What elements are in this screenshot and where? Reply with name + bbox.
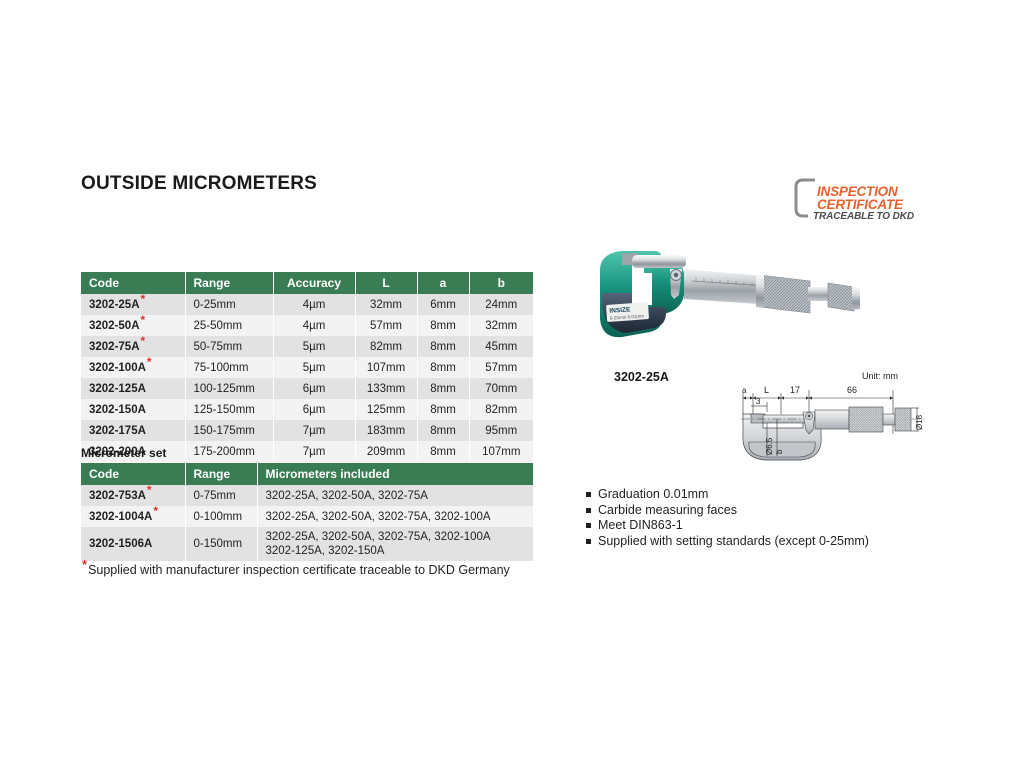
dim-label-17: 17 [790,385,800,395]
col-header-accuracy: Accuracy [273,272,355,294]
table-row: 3202-125A100-125mm6µm133mm8mm70mm [81,378,533,399]
cell-set-code: 3202-1004A* [81,506,185,527]
cell-a: 8mm [417,315,469,336]
cell-l: 209mm [355,441,417,462]
feature-text: Meet DIN863-1 [598,518,683,534]
cell-b: 45mm [469,336,533,357]
included-line: 3202-25A, 3202-50A, 3202-75A, 3202-100A [266,510,528,524]
cell-b: 70mm [469,378,533,399]
cell-l: 57mm [355,315,417,336]
included-line: 3202-25A, 3202-50A, 3202-75A, 3202-100A [266,530,528,544]
certificate-star-icon: * [147,355,152,369]
cell-set-range: 0-75mm [185,485,257,506]
cell-range: 125-150mm [185,399,273,420]
cell-a: 8mm [417,420,469,441]
cell-accuracy: 4µm [273,294,355,315]
cell-b: 32mm [469,315,533,336]
cell-l: 125mm [355,399,417,420]
product-photo-micrometer: INSIZE 0-25mm 0.01mm [592,233,888,363]
cell-range: 175-200mm [185,441,273,462]
cell-set-included: 3202-25A, 3202-50A, 3202-75A, 3202-100A [257,506,533,527]
dim-label-b: b [775,450,784,454]
cell-accuracy: 5µm [273,357,355,378]
cell-l: 82mm [355,336,417,357]
cell-set-included: 3202-25A, 3202-50A, 3202-75A, 3202-100A3… [257,527,533,561]
col-header-code: Code [81,272,185,294]
micrometer-set-table: Code Range Micrometers included 3202-753… [81,463,533,561]
feature-list: Graduation 0.01mmCarbide measuring faces… [586,487,869,549]
table-row: 3202-100A*75-100mm5µm107mm8mm57mm [81,357,533,378]
cell-a: 8mm [417,378,469,399]
set-col-header-code: Code [81,463,185,485]
cell-set-range: 0-150mm [185,527,257,561]
included-line: 3202-125A, 3202-150A [266,544,528,558]
set-table-row: 3202-753A*0-75mm3202-25A, 3202-50A, 3202… [81,485,533,506]
cell-l: 32mm [355,294,417,315]
included-line: 3202-25A, 3202-50A, 3202-75A [266,489,528,503]
col-header-a: a [417,272,469,294]
cell-a: 6mm [417,294,469,315]
cell-code: 3202-50A* [81,315,185,336]
table-header-row: Code Range Accuracy L a b [81,272,533,294]
footnote-star-icon: * [82,557,87,572]
cell-code: 3202-150A [81,399,185,420]
table-row: 3202-150A125-150mm6µm125mm8mm82mm [81,399,533,420]
feature-text: Graduation 0.01mm [598,487,708,503]
feature-item: Meet DIN863-1 [586,518,869,534]
cell-set-code: 3202-1506A [81,527,185,561]
certificate-star-icon: * [141,334,146,348]
cell-code: 3202-175A [81,420,185,441]
cell-set-included: 3202-25A, 3202-50A, 3202-75A [257,485,533,506]
dim-label-66: 66 [847,385,857,395]
feature-text: Carbide measuring faces [598,503,737,519]
cell-code: 3202-25A* [81,294,185,315]
certificate-star-icon: * [147,483,152,497]
feature-text: Supplied with setting standards (except … [598,534,869,550]
footnote: *Supplied with manufacturer inspection c… [81,563,510,577]
table-row: 3202-75A*50-75mm5µm82mm8mm45mm [81,336,533,357]
inspection-certificate-logo: INSPECTION CERTIFICATE TRACEABLE TO DKD [793,176,953,226]
cell-code: 3202-125A [81,378,185,399]
cell-accuracy: 7µm [273,441,355,462]
certificate-line-3: TRACEABLE TO DKD [813,211,914,222]
dim-label-dia-18: Ø18 [915,415,924,430]
set-table-row: 3202-1506A0-150mm3202-25A, 3202-50A, 320… [81,527,533,561]
col-header-range: Range [185,272,273,294]
cell-accuracy: 5µm [273,336,355,357]
cell-code: 3202-75A* [81,336,185,357]
table-row: 3202-25A*0-25mm4µm32mm6mm24mm [81,294,533,315]
set-table-row: 3202-1004A*0-100mm3202-25A, 3202-50A, 32… [81,506,533,527]
cell-range: 100-125mm [185,378,273,399]
cell-l: 133mm [355,378,417,399]
cell-b: 24mm [469,294,533,315]
cell-accuracy: 4µm [273,315,355,336]
set-col-header-included: Micrometers included [257,463,533,485]
certificate-star-icon: * [141,313,146,327]
cell-range: 50-75mm [185,336,273,357]
square-bullet-icon [586,492,591,497]
cell-b: 57mm [469,357,533,378]
dim-label-dia-6-5: Ø6.5 [765,438,774,455]
square-bullet-icon [586,508,591,513]
set-col-header-range: Range [185,463,257,485]
cell-set-code: 3202-753A* [81,485,185,506]
cell-b: 107mm [469,441,533,462]
cell-accuracy: 6µm [273,399,355,420]
cell-l: 183mm [355,420,417,441]
cell-set-range: 0-100mm [185,506,257,527]
set-table-header-row: Code Range Micrometers included [81,463,533,485]
page-title: OUTSIDE MICROMETERS [81,173,317,195]
square-bullet-icon [586,523,591,528]
certificate-star-icon: * [153,504,158,518]
specifications-table: Code Range Accuracy L a b 3202-25A*0-25m… [81,272,533,462]
table-row: 3202-50A*25-50mm4µm57mm8mm32mm [81,315,533,336]
feature-item: Carbide measuring faces [586,503,869,519]
dim-label-3: 3 [756,397,760,406]
col-header-b: b [469,272,533,294]
cell-a: 8mm [417,336,469,357]
certificate-star-icon: * [141,292,146,306]
cell-a: 8mm [417,357,469,378]
square-bullet-icon [586,539,591,544]
cell-range: 25-50mm [185,315,273,336]
dim-label-L: L [764,385,769,395]
cell-b: 82mm [469,399,533,420]
dim-unit-label: Unit: mm [862,371,898,381]
cell-range: 150-175mm [185,420,273,441]
dim-label-a: a [742,386,746,395]
micrometer-set-heading: Micrometer set [81,446,166,460]
cell-accuracy: 7µm [273,420,355,441]
certificate-line-2: CERTIFICATE [817,197,903,212]
table-row: 3202-175A150-175mm7µm183mm8mm95mm [81,420,533,441]
footnote-text: Supplied with manufacturer inspection ce… [88,563,510,577]
product-photo-caption: 3202-25A [614,370,669,384]
cell-code: 3202-100A* [81,357,185,378]
cell-range: 0-25mm [185,294,273,315]
cell-l: 107mm [355,357,417,378]
feature-item: Graduation 0.01mm [586,487,869,503]
cell-b: 95mm [469,420,533,441]
cell-range: 75-100mm [185,357,273,378]
feature-item: Supplied with setting standards (except … [586,534,869,550]
col-header-l: L [355,272,417,294]
dimension-drawing: a L 17 66 3 b Ø6.5 Ø18 Unit: mm [737,372,932,467]
cell-accuracy: 6µm [273,378,355,399]
cell-a: 8mm [417,441,469,462]
cell-a: 8mm [417,399,469,420]
